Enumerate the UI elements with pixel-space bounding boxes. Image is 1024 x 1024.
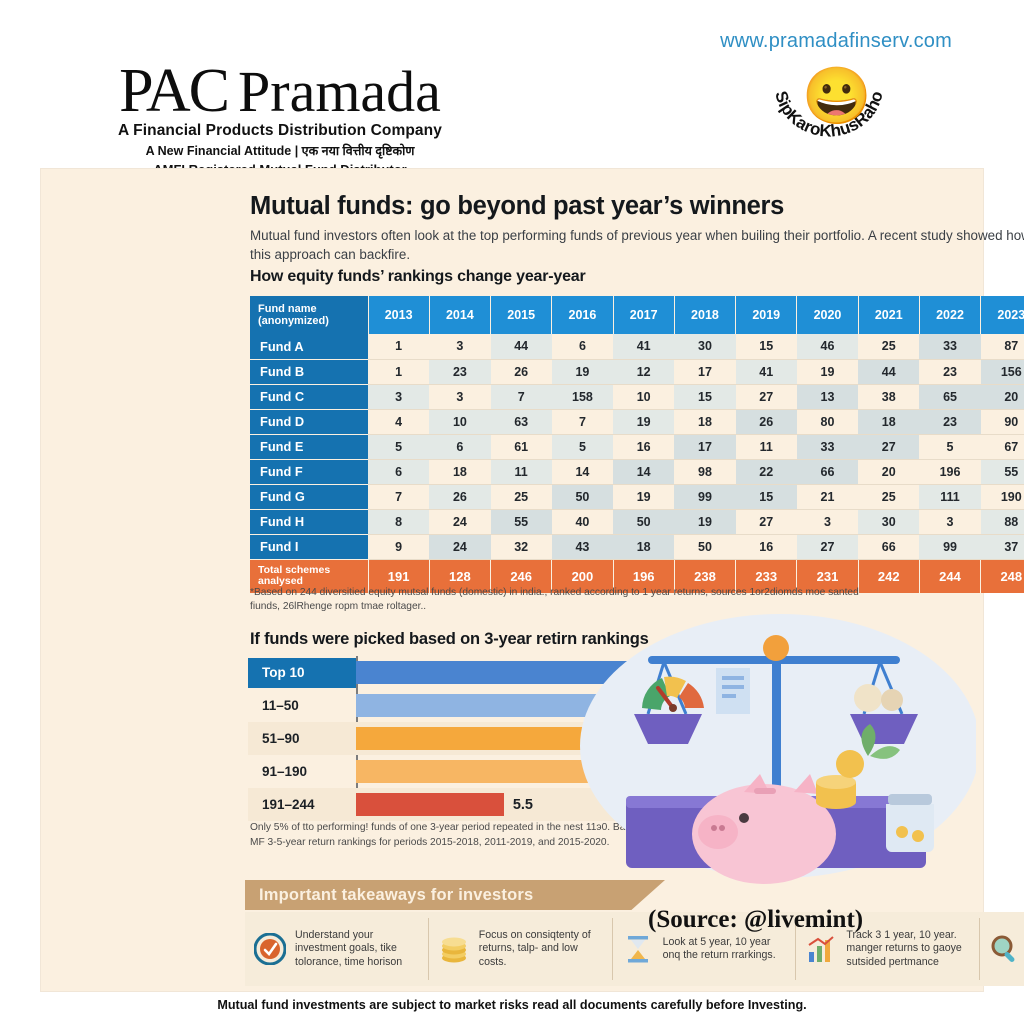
rank-cell: 50 — [674, 534, 735, 559]
rank-cell: 17 — [674, 434, 735, 459]
bar-value: 5.5 — [513, 797, 533, 813]
col-year-8: 2021 — [858, 296, 919, 334]
table-row: Fund B1232619121741194423156415475 — [250, 359, 1024, 384]
sip-badge: SipKaroKhusRaho 😀 — [762, 62, 896, 154]
bar-label: 191–244 — [248, 790, 356, 820]
rank-cell: 44 — [491, 334, 552, 359]
rank-cell: 30 — [858, 509, 919, 534]
rank-cell: 8 — [368, 509, 429, 534]
table-row: Fund H8245540501927330388206229 — [250, 509, 1024, 534]
rank-cell: 55 — [491, 509, 552, 534]
rank-cell: 156 — [981, 359, 1024, 384]
rank-cell: 15 — [736, 484, 797, 509]
rank-cell: 43 — [552, 534, 613, 559]
rank-cell: 9 — [368, 534, 429, 559]
risk-disclaimer: Mutual fund investments are subject to m… — [0, 998, 1024, 1012]
table-header-row: Fund name (anonymized) 2013 2014 2015 20… — [250, 296, 1024, 334]
total-cell: 248 — [981, 559, 1024, 593]
magnifier-icon — [988, 932, 1022, 966]
page-title: Mutual funds: go beyond past year’s winn… — [250, 192, 784, 221]
takeaways-banner: Important takeaways for investors — [245, 880, 665, 910]
rank-cell: 46 — [797, 334, 858, 359]
rank-cell: 7 — [491, 384, 552, 409]
rank-cell: 21 — [797, 484, 858, 509]
takeaway-text: Look at 5 year, 10 year onq the return r… — [663, 936, 788, 963]
rank-cell: 3 — [797, 509, 858, 534]
rank-cell: 25 — [858, 484, 919, 509]
rank-cell: 11 — [736, 434, 797, 459]
rank-cell: 1 — [368, 359, 429, 384]
col-year-1: 2014 — [429, 296, 490, 334]
rank-cell: 6 — [368, 459, 429, 484]
rank-cell: 14 — [613, 459, 674, 484]
rank-cell: 17 — [674, 359, 735, 384]
rank-cell: 99 — [919, 534, 980, 559]
rank-cell: 41 — [613, 334, 674, 359]
fund-name-cell: Fund I — [250, 534, 368, 559]
rank-cell: 5 — [919, 434, 980, 459]
rank-cell: 19 — [797, 359, 858, 384]
col-fund-name: Fund name (anonymized) — [250, 296, 368, 334]
rank-cell: 10 — [429, 409, 490, 434]
rank-cell: 158 — [552, 384, 613, 409]
table-row: Fund G72625501999152125111190705131 — [250, 484, 1024, 509]
rank-cell: 26 — [429, 484, 490, 509]
rank-cell: 14 — [552, 459, 613, 484]
rankings-table: Fund name (anonymized) 2013 2014 2015 20… — [250, 296, 1024, 593]
rank-cell: 44 — [858, 359, 919, 384]
tagline-secondary: A New Financial Attitude | एक नया वित्ती… — [70, 142, 490, 159]
rank-cell: 90 — [981, 409, 1024, 434]
rank-cell: 27 — [797, 534, 858, 559]
brand-header: PAC Pramada A Financial Products Distrib… — [0, 0, 1024, 168]
col-fund-name-l1: Fund name — [258, 303, 317, 315]
fund-name-cell: Fund F — [250, 459, 368, 484]
rank-cell: 15 — [736, 334, 797, 359]
rank-cell: 19 — [613, 484, 674, 509]
rank-cell: 50 — [613, 509, 674, 534]
rank-cell: 50 — [552, 484, 613, 509]
rank-cell: 27 — [736, 509, 797, 534]
coins-icon — [437, 932, 471, 966]
rank-cell: 11 — [491, 459, 552, 484]
rank-cell: 99 — [674, 484, 735, 509]
rank-cell: 18 — [613, 534, 674, 559]
rank-cell: 98 — [674, 459, 735, 484]
hourglass-icon — [621, 932, 655, 966]
table-body: Fund A1344641301546253387206233Fund B123… — [250, 334, 1024, 559]
rank-cell: 25 — [858, 334, 919, 359]
rank-cell: 88 — [981, 509, 1024, 534]
rank-cell: 10 — [613, 384, 674, 409]
chart-icon — [804, 932, 838, 966]
takeaways-strip: Understand your investment goals, tike t… — [245, 912, 1024, 986]
total-cell: 244 — [919, 559, 980, 593]
rank-cell: 30 — [674, 334, 735, 359]
smiley-icon: 😀 — [802, 68, 872, 124]
col-year-0: 2013 — [368, 296, 429, 334]
table-row: Fund C33715810152713386520235205 — [250, 384, 1024, 409]
rank-cell: 24 — [429, 509, 490, 534]
fund-name-cell: Fund G — [250, 484, 368, 509]
rank-cell: 3 — [429, 334, 490, 359]
rank-cell: 5 — [368, 434, 429, 459]
fund-name-cell: Fund E — [250, 434, 368, 459]
table-head: Fund name (anonymized) 2013 2014 2015 20… — [250, 296, 1024, 334]
bar-label: 51–90 — [248, 724, 356, 754]
infographic-page: PAC Pramada A Financial Products Distrib… — [0, 0, 1024, 1024]
rank-cell: 16 — [613, 434, 674, 459]
rank-cell: 6 — [552, 334, 613, 359]
rank-cell: 66 — [797, 459, 858, 484]
rank-cell: 32 — [491, 534, 552, 559]
col-year-3: 2016 — [552, 296, 613, 334]
rankings-table-wrap: Fund name (anonymized) 2013 2014 2015 20… — [250, 296, 1024, 593]
rank-cell: 16 — [736, 534, 797, 559]
rank-cell: 41 — [736, 359, 797, 384]
bar-label: 91–190 — [248, 757, 356, 787]
rank-cell: 15 — [674, 384, 735, 409]
rank-cell: 40 — [552, 509, 613, 534]
rank-cell: 4 — [368, 409, 429, 434]
rank-cell: 20 — [981, 384, 1024, 409]
rank-cell: 23 — [919, 409, 980, 434]
bar-label: Top 10 — [248, 658, 356, 688]
rank-cell: 18 — [674, 409, 735, 434]
fund-name-cell: Fund H — [250, 509, 368, 534]
takeaways-banner-label: Important takeaways for investors — [259, 886, 533, 905]
illustration-svg — [568, 596, 976, 896]
rank-cell: 38 — [858, 384, 919, 409]
infographic-card: Mutual funds: go beyond past year’s winn… — [40, 168, 984, 992]
rank-cell: 63 — [491, 409, 552, 434]
rank-cell: 65 — [919, 384, 980, 409]
rank-cell: 18 — [858, 409, 919, 434]
rank-cell: 196 — [919, 459, 980, 484]
rank-cell: 80 — [797, 409, 858, 434]
rank-cell: 7 — [368, 484, 429, 509]
rank-cell: 3 — [368, 384, 429, 409]
company-name: Pramada — [238, 63, 441, 121]
col-year-9: 2022 — [919, 296, 980, 334]
takeaway-text: Understand your investment goals, tike t… — [295, 929, 420, 969]
takeaway-item: Track fund manger’s expceeniee, aule str… — [980, 918, 1024, 980]
rank-cell: 3 — [919, 509, 980, 534]
rank-cell: 18 — [429, 459, 490, 484]
rank-cell: 5 — [552, 434, 613, 459]
rank-cell: 13 — [797, 384, 858, 409]
rank-cell: 55 — [981, 459, 1024, 484]
rank-cell: 27 — [858, 434, 919, 459]
col-year-4: 2017 — [613, 296, 674, 334]
takeaway-item: Focus on consiqtenty of returns, talp- a… — [429, 918, 613, 980]
source-credit: (Source: @livemint) — [648, 906, 863, 934]
page-subtitle: Mutual fund investors often look at the … — [250, 226, 1024, 265]
rank-cell: 190 — [981, 484, 1024, 509]
rank-cell: 67 — [981, 434, 1024, 459]
rank-cell: 23 — [429, 359, 490, 384]
table-row: Fund I9243243185016276699376676 — [250, 534, 1024, 559]
website-url[interactable]: www.pramadafinserv.com — [720, 30, 952, 53]
rank-cell: 20 — [858, 459, 919, 484]
table-section-title: How equity funds’ rankings change year-y… — [250, 268, 586, 286]
balance-scale-illustration — [568, 596, 976, 896]
col-year-5: 2018 — [674, 296, 735, 334]
rank-cell: 19 — [552, 359, 613, 384]
takeaway-text: Track 3 1 year, 10 year. manger returns … — [846, 929, 971, 969]
fund-name-cell: Fund C — [250, 384, 368, 409]
col-fund-name-l2: (anonymized) — [258, 315, 329, 327]
rank-cell: 19 — [613, 409, 674, 434]
table-row: Fund D41063719182680182390200224 — [250, 409, 1024, 434]
rank-cell: 24 — [429, 534, 490, 559]
rank-cell: 61 — [491, 434, 552, 459]
rank-cell: 27 — [736, 384, 797, 409]
fund-name-cell: Fund D — [250, 409, 368, 434]
col-year-2: 2015 — [491, 296, 552, 334]
fund-name-cell: Fund B — [250, 359, 368, 384]
rank-cell: 33 — [919, 334, 980, 359]
rank-cell: 25 — [491, 484, 552, 509]
rank-cell: 26 — [491, 359, 552, 384]
rank-cell: 7 — [552, 409, 613, 434]
rank-cell: 12 — [613, 359, 674, 384]
rank-cell: 87 — [981, 334, 1024, 359]
col-year-10: 2023 — [981, 296, 1024, 334]
pac-logo-mark: PAC — [119, 62, 228, 121]
company-logo-block: PAC Pramada A Financial Products Distrib… — [70, 62, 490, 177]
rank-cell: 3 — [429, 384, 490, 409]
rank-cell: 22 — [736, 459, 797, 484]
col-year-6: 2019 — [736, 296, 797, 334]
col-year-7: 2020 — [797, 296, 858, 334]
rank-cell: 26 — [736, 409, 797, 434]
table-row: Fund A1344641301546253387206233 — [250, 334, 1024, 359]
rank-cell: 1 — [368, 334, 429, 359]
rank-cell: 6 — [429, 434, 490, 459]
rank-cell: 33 — [797, 434, 858, 459]
bar-label: 11–50 — [248, 691, 356, 721]
rank-cell: 37 — [981, 534, 1024, 559]
takeaway-text: Focus on consiqtenty of returns, talp- a… — [479, 929, 604, 969]
rank-cell: 19 — [674, 509, 735, 534]
bar-fill — [356, 793, 504, 816]
rank-cell: 23 — [919, 359, 980, 384]
target-icon — [253, 932, 287, 966]
table-row: Fund E566151617113327567293236 — [250, 434, 1024, 459]
rank-cell: 111 — [919, 484, 980, 509]
fund-name-cell: Fund A — [250, 334, 368, 359]
rank-cell: 66 — [858, 534, 919, 559]
table-row: Fund F6181114149822662019655102223 — [250, 459, 1024, 484]
takeaway-item: Understand your investment goals, tike t… — [245, 918, 429, 980]
